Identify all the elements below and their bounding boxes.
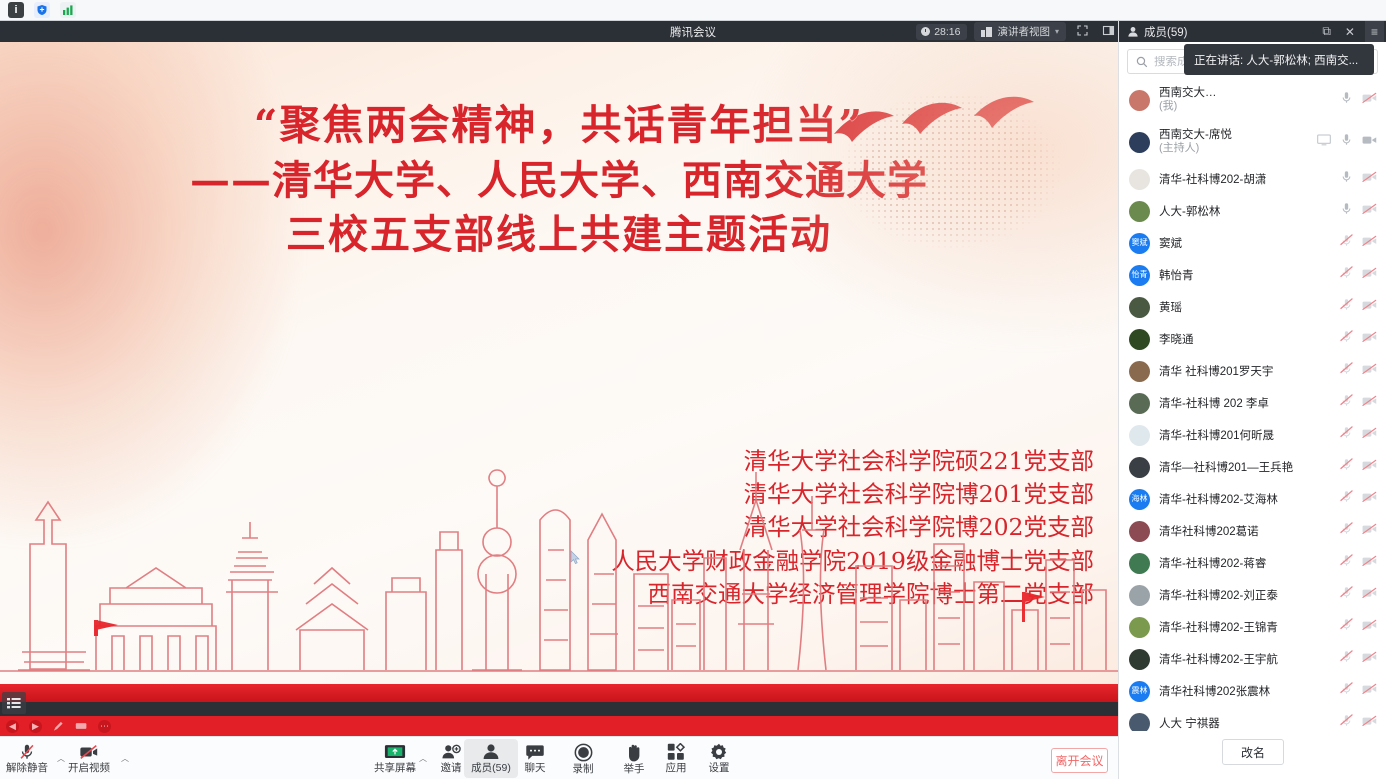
camera-off-icon[interactable]: [1362, 618, 1377, 636]
avatar: [1129, 585, 1150, 606]
participants-panel-header: 成员(59) ⧉ ✕ ≡: [1119, 21, 1386, 42]
camera-off-icon[interactable]: [1362, 554, 1377, 572]
camera-off-icon[interactable]: [1362, 234, 1377, 252]
share-screen-button[interactable]: 共享屏幕: [368, 739, 422, 778]
participant-status-icons: [1317, 133, 1377, 151]
apps-label: 应用: [666, 763, 687, 774]
camera-off-icon[interactable]: [1362, 266, 1377, 284]
microphone-muted-icon[interactable]: [1340, 650, 1353, 668]
share-screen-icon: [384, 744, 406, 761]
camera-off-icon[interactable]: [1362, 682, 1377, 700]
participant-row[interactable]: 清华-社科博202-刘正泰: [1119, 579, 1386, 611]
settings-label: 设置: [709, 763, 730, 774]
participant-name: 清华社科博202葛诺: [1159, 523, 1331, 539]
branch-item: 清华大学社会科学院博201党支部: [454, 480, 1094, 508]
camera-off-icon[interactable]: [1362, 330, 1377, 348]
participant-status-icons: [1340, 458, 1377, 476]
avatar: 海林: [1129, 489, 1150, 510]
microphone-muted-icon[interactable]: [1340, 394, 1353, 412]
participant-status-icons: [1340, 714, 1377, 732]
invite-label: 邀请: [441, 763, 462, 774]
screen-share-icon[interactable]: [1317, 133, 1331, 151]
microphone-muted-icon[interactable]: [1340, 490, 1353, 508]
search-icon: [1136, 56, 1148, 68]
microphone-muted-icon[interactable]: [1340, 522, 1353, 540]
avatar: [1129, 553, 1150, 574]
participant-row[interactable]: 清华-社科博202-蒋睿: [1119, 547, 1386, 579]
person-icon: [1127, 26, 1139, 38]
view-mode-label: 演讲者视图: [997, 24, 1050, 39]
participant-row[interactable]: 清华-社科博202-王宇航: [1119, 643, 1386, 675]
share-screen-label: 共享屏幕: [374, 763, 416, 774]
participant-row[interactable]: 海林清华-社科博202-艾海林: [1119, 483, 1386, 515]
slide-title-block: “聚焦两会精神，共话青年担当” ——清华大学、人民大学、西南交通大学 三校五支部…: [0, 100, 1118, 260]
branch-item: 人民大学财政金融学院2019级金融博士党支部: [454, 547, 1094, 575]
avatar: 窦斌: [1129, 233, 1150, 254]
shield-icon[interactable]: [34, 2, 50, 18]
avatar: [1129, 132, 1150, 153]
ppt-presenter-toolbar[interactable]: ◀ ▶ ⋯: [0, 716, 1118, 736]
participant-row[interactable]: 人大-郭松林: [1119, 195, 1386, 227]
chat-button[interactable]: 聊天: [508, 739, 562, 778]
participant-name: 清华-社科博202-刘正泰: [1159, 587, 1331, 603]
camera-off-icon[interactable]: [1362, 202, 1377, 220]
participant-status-icons: [1340, 234, 1377, 252]
participant-row[interactable]: 震林清华社科博202张震林: [1119, 675, 1386, 707]
avatar: [1129, 393, 1150, 414]
microphone-muted-icon: [18, 743, 36, 761]
app-title: 腾讯会议: [670, 24, 716, 40]
participant-row[interactable]: 怡青韩怡青: [1119, 259, 1386, 291]
camera-off-icon[interactable]: [1362, 394, 1377, 412]
timer-value: 28:16: [934, 26, 960, 38]
record-button[interactable]: 录制: [556, 739, 610, 778]
participant-name: 清华-社科博202-艾海林: [1159, 491, 1331, 507]
participants-list[interactable]: 西南交大…(我)西南交大-席悦(主持人)清华-社科博202-胡潇人大-郭松林窦斌…: [1119, 79, 1386, 747]
participant-status-icons: [1340, 682, 1377, 700]
participant-status-icons: [1340, 266, 1377, 284]
microphone-muted-icon[interactable]: [1340, 426, 1353, 444]
camera-off-icon[interactable]: [1362, 650, 1377, 668]
participant-row[interactable]: 清华社科博202葛诺: [1119, 515, 1386, 547]
participant-status-icons: [1340, 586, 1377, 604]
camera-icon[interactable]: [1362, 133, 1377, 151]
camera-off-icon[interactable]: [1362, 458, 1377, 476]
avatar: [1129, 425, 1150, 446]
slide-bottom-red-bar: [0, 684, 1118, 702]
birds-decoration: [824, 94, 1084, 204]
members-label: 成员(59): [471, 763, 511, 774]
ppt-next-slide-icon[interactable]: ▶: [29, 720, 42, 733]
world-map-dots-decoration: [834, 94, 1094, 264]
microphone-muted-icon[interactable]: [1340, 330, 1353, 348]
camera-off-icon[interactable]: [1362, 522, 1377, 540]
chat-bubble-icon: [525, 744, 545, 761]
participant-status-icons: [1340, 170, 1377, 188]
participant-status-icons: [1340, 490, 1377, 508]
avatar: [1129, 90, 1150, 111]
panel-menu-icon[interactable]: ≡: [1365, 21, 1384, 42]
slide-title-line-2: ——清华大学、人民大学、西南交通大学: [0, 156, 1118, 206]
apps-grid-icon: [667, 743, 685, 761]
microphone-icon[interactable]: [1340, 91, 1353, 109]
participants-count-label: 成员(59): [1144, 24, 1187, 40]
camera-off-icon[interactable]: [1362, 170, 1377, 188]
ppt-pen-icon[interactable]: [52, 720, 65, 733]
participant-status-icons: [1340, 298, 1377, 316]
participant-name: 清华-社科博202-蒋睿: [1159, 555, 1331, 571]
participant-name: 清华-社科博202-胡潇: [1159, 171, 1331, 187]
speaking-tooltip: 正在讲话: 人大-郭松林; 西南交...: [1184, 44, 1374, 75]
participant-name: 人大 宁祺器: [1159, 715, 1331, 731]
raise-hand-label: 举手: [624, 764, 645, 775]
participant-row[interactable]: 李晓通: [1119, 323, 1386, 355]
participant-row[interactable]: 清华-社科博202-胡潇: [1119, 163, 1386, 195]
view-mode-selector[interactable]: 演讲者视图 ▾: [974, 22, 1066, 41]
avatar: 震林: [1129, 681, 1150, 702]
rename-button[interactable]: 改名: [1222, 739, 1284, 765]
microphone-muted-icon[interactable]: [1340, 714, 1353, 732]
participant-row[interactable]: 清华 社科博201罗天宇: [1119, 355, 1386, 387]
settings-button[interactable]: 设置: [692, 739, 746, 778]
popout-icon[interactable]: ⧉: [1318, 24, 1335, 39]
participant-name: 清华-社科博202-王锦青: [1159, 619, 1331, 635]
participant-status-icons: [1340, 426, 1377, 444]
mute-button-label: 解除静音: [6, 763, 48, 774]
participant-name: 清华社科博202张震林: [1159, 683, 1331, 699]
chevron-down-icon: ▾: [1055, 27, 1059, 36]
camera-off-icon[interactable]: [1362, 91, 1377, 109]
meeting-timer[interactable]: 28:16: [916, 24, 967, 40]
microphone-muted-icon[interactable]: [1340, 362, 1353, 380]
rename-area: 改名: [1119, 731, 1386, 765]
microphone-muted-icon[interactable]: [1340, 586, 1353, 604]
participant-name: 清华-社科博 202 李卓: [1159, 395, 1331, 411]
participant-status-icons: [1340, 554, 1377, 572]
microphone-muted-icon[interactable]: [1340, 554, 1353, 572]
layout-icon: [981, 27, 992, 37]
os-chrome-bar: i: [0, 0, 1386, 21]
raised-hand-icon: [625, 743, 643, 762]
mute-button[interactable]: 解除静音: [0, 739, 54, 778]
clock-icon: [921, 27, 930, 36]
fullscreen-icon[interactable]: [1073, 24, 1092, 40]
close-icon[interactable]: ✕: [1341, 25, 1359, 39]
microphone-icon[interactable]: [1340, 170, 1353, 188]
leave-meeting-button[interactable]: 离开会议: [1051, 748, 1108, 773]
participant-name: 西南交大…(我): [1159, 86, 1331, 114]
participant-name: 李晓通: [1159, 331, 1331, 347]
participant-row[interactable]: 西南交大-席悦(主持人): [1119, 121, 1386, 163]
ppt-screen-icon[interactable]: [75, 720, 88, 733]
microphone-muted-icon[interactable]: [1340, 458, 1353, 476]
avatar: 怡青: [1129, 265, 1150, 286]
record-label: 录制: [573, 764, 594, 775]
avatar: [1129, 521, 1150, 542]
microphone-muted-icon[interactable]: [1340, 682, 1353, 700]
avatar: [1129, 617, 1150, 638]
video-button[interactable]: 开启视频: [62, 739, 116, 778]
camera-off-icon[interactable]: [1362, 586, 1377, 604]
microphone-muted-icon[interactable]: [1340, 618, 1353, 636]
slide-title-line-1: “聚焦两会精神，共话青年担当”: [0, 100, 1118, 151]
info-icon[interactable]: i: [8, 2, 24, 18]
participant-status-icons: [1340, 394, 1377, 412]
microphone-muted-icon[interactable]: [1340, 298, 1353, 316]
participant-status-icons: [1340, 330, 1377, 348]
record-icon: [574, 743, 593, 762]
meeting-controls-toolbar: 解除静音 ︿ 开启视频 ︿ 共享屏幕 ︿ 邀请: [0, 736, 1118, 779]
participant-row[interactable]: 窦斌窦斌: [1119, 227, 1386, 259]
participant-name: 韩怡青: [1159, 267, 1331, 283]
avatar: [1129, 361, 1150, 382]
participant-row[interactable]: 清华—社科博201—王兵艳: [1119, 451, 1386, 483]
participants-panel: 成员(59) ⧉ ✕ ≡ 西南交大…(我)西南交大-席悦(主持人)清华-社科博2…: [1118, 21, 1386, 779]
participant-status-icons: [1340, 618, 1377, 636]
branch-item: 清华大学社会科学院硕221党支部: [454, 447, 1094, 475]
participant-name: 清华-社科博202-王宇航: [1159, 651, 1331, 667]
app-root: i 腾讯会议 28:16 演讲者视图 ▾: [0, 0, 1386, 779]
participant-name: 西南交大-席悦(主持人): [1159, 128, 1308, 156]
ppt-prev-slide-icon[interactable]: ◀: [6, 720, 19, 733]
participant-status-icons: [1340, 202, 1377, 220]
participant-name: 黄瑶: [1159, 299, 1331, 315]
shared-screen-stage[interactable]: “聚焦两会精神，共话青年担当” ——清华大学、人民大学、西南交通大学 三校五支部…: [0, 42, 1118, 736]
avatar: [1129, 201, 1150, 222]
camera-off-icon[interactable]: [1362, 490, 1377, 508]
participant-row[interactable]: 黄瑶: [1119, 291, 1386, 323]
party-branch-list: 清华大学社会科学院硕221党支部 清华大学社会科学院博201党支部 清华大学社会…: [454, 447, 1094, 613]
participant-name: 窦斌: [1159, 235, 1331, 251]
participant-status-icons: [1340, 650, 1377, 668]
participants-panel-title-wrap: 成员(59): [1127, 24, 1312, 40]
video-button-label: 开启视频: [68, 763, 110, 774]
presentation-slide: “聚焦两会精神，共话青年担当” ——清华大学、人民大学、西南交通大学 三校五支部…: [0, 42, 1118, 702]
sidebar-toggle-icon[interactable]: [1099, 24, 1118, 40]
chat-label: 聊天: [525, 763, 546, 774]
avatar: [1129, 169, 1150, 190]
participant-status-icons: [1340, 91, 1377, 109]
participant-name: 人大-郭松林: [1159, 203, 1331, 219]
camera-off-icon[interactable]: [1362, 362, 1377, 380]
branch-item: 清华大学社会科学院博202党支部: [454, 513, 1094, 541]
microphone-icon[interactable]: [1340, 202, 1353, 220]
video-options-chevron-icon[interactable]: ︿: [121, 753, 129, 764]
slide-title-line-3: 三校五支部线上共建主题活动: [0, 210, 1118, 260]
participant-row[interactable]: 清华-社科博202-王锦青: [1119, 611, 1386, 643]
participant-row[interactable]: 西南交大…(我): [1119, 79, 1386, 121]
avatar: [1129, 297, 1150, 318]
participant-name: 清华 社科博201罗天宇: [1159, 363, 1331, 379]
participant-row[interactable]: 清华-社科博201何昕晟: [1119, 419, 1386, 451]
invite-person-icon: [441, 743, 461, 761]
camera-off-icon[interactable]: [1362, 426, 1377, 444]
gear-icon: [710, 743, 728, 761]
camera-off-icon[interactable]: [1362, 714, 1377, 732]
signal-bars-icon[interactable]: [60, 2, 76, 18]
title-bar-controls: 28:16 演讲者视图 ▾: [916, 21, 1118, 42]
microphone-muted-icon[interactable]: [1340, 234, 1353, 252]
branch-item: 西南交通大学经济管理学院博士第二党支部: [454, 580, 1094, 608]
members-icon: [481, 743, 501, 761]
microphone-icon[interactable]: [1340, 133, 1353, 151]
microphone-muted-icon[interactable]: [1340, 266, 1353, 284]
participant-status-icons: [1340, 522, 1377, 540]
ppt-more-options-icon[interactable]: ⋯: [98, 720, 111, 733]
avatar: [1129, 649, 1150, 670]
participant-row[interactable]: 清华-社科博 202 李卓: [1119, 387, 1386, 419]
camera-off-icon: [79, 743, 99, 761]
avatar: [1129, 457, 1150, 478]
avatar: [1129, 329, 1150, 350]
participant-name: 清华—社科博201—王兵艳: [1159, 459, 1331, 475]
ppt-thumbnail-panel-icon[interactable]: [2, 692, 26, 714]
camera-off-icon[interactable]: [1362, 298, 1377, 316]
mouse-cursor: [570, 550, 581, 565]
participant-name: 清华-社科博201何昕晟: [1159, 427, 1331, 443]
participant-status-icons: [1340, 362, 1377, 380]
